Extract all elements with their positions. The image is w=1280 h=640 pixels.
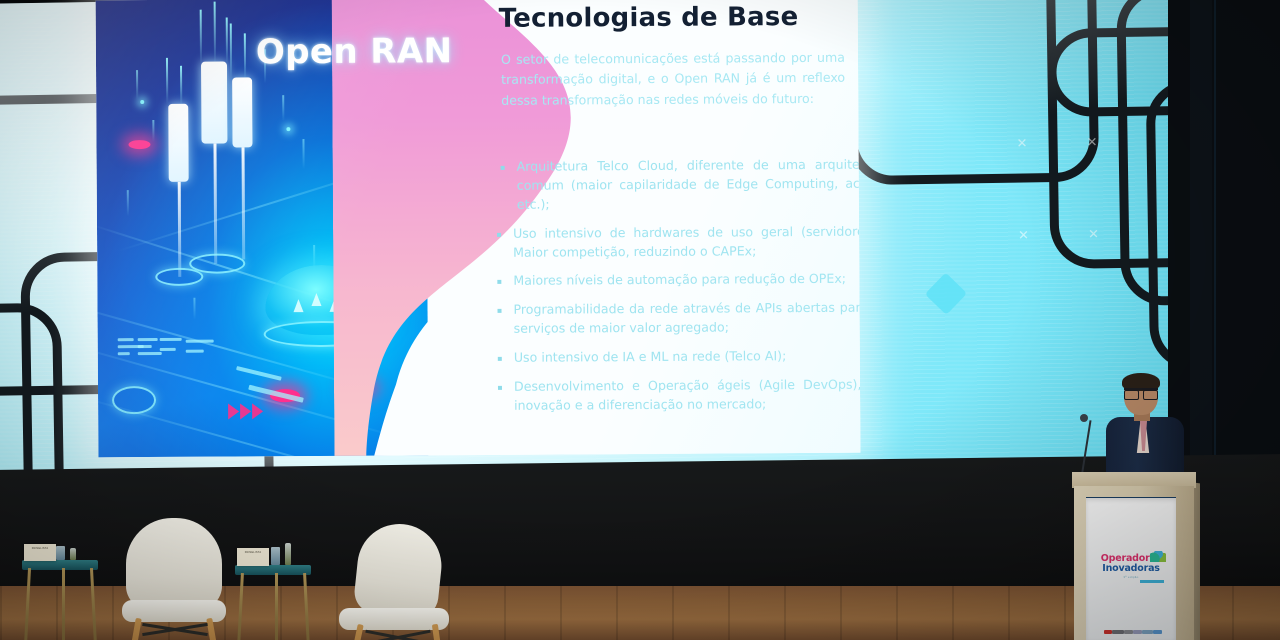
logo-tagline: 3ª edição (1086, 575, 1176, 579)
data-block (186, 350, 204, 353)
sponsor-mark (1124, 630, 1134, 634)
name-card-text: PAINELISTA (24, 544, 56, 551)
chevron-accent (228, 403, 239, 419)
logo-line-2: Inovadoras (1086, 564, 1176, 574)
sponsor-mark (1153, 630, 1162, 634)
x-accent: ✕ (1016, 135, 1027, 151)
bullet-dot (497, 280, 501, 284)
particle (152, 120, 154, 142)
table-top (22, 560, 98, 570)
particle (127, 190, 129, 216)
bullet-text: Uso intensivo de hardwares de uso geral … (513, 222, 860, 262)
water-glass (56, 546, 65, 560)
podium-branding-panel: Operadoras Inovadoras 3ª edição (1086, 498, 1176, 640)
slide-intro-paragraph: O setor de telecomunicações está passand… (501, 48, 845, 111)
data-block (118, 352, 130, 355)
antenna-signal-bar (166, 58, 168, 104)
data-block (236, 366, 282, 381)
antenna-pole (242, 147, 246, 259)
cloud-icon (1150, 551, 1166, 562)
antenna-signal-bar (200, 10, 202, 64)
glasses-icon (1124, 388, 1158, 396)
bullet-dot (498, 386, 502, 390)
data-block (138, 352, 162, 355)
glow-dot (140, 100, 144, 104)
antenna-icon (168, 104, 188, 182)
microphone-icon (1080, 414, 1088, 422)
x-accent: ✕ (1018, 227, 1029, 243)
data-block (138, 345, 152, 348)
podium: Operadoras Inovadoras 3ª edição (1072, 472, 1196, 640)
logo-underbar (1140, 580, 1164, 583)
sponsor-mark (1112, 630, 1124, 634)
data-block (138, 338, 158, 341)
data-block (160, 338, 182, 341)
projected-slide: Open RAN Tecnologias de Base O setor de … (96, 0, 861, 457)
water-bottle (70, 548, 76, 560)
antenna-signal-bar (226, 18, 228, 64)
event-logo: Operadoras Inovadoras 3ª edição (1086, 554, 1176, 579)
antenna-signal-bar (180, 66, 182, 106)
chevron-accent (240, 403, 251, 419)
bullet-dot (498, 309, 502, 313)
list-item: Desenvolvimento e Operação ágeis (Agile … (498, 375, 860, 416)
antenna-signal-bar (230, 24, 232, 80)
name-card: PAINELISTA (237, 548, 269, 566)
circuit-ring (112, 386, 156, 414)
data-block (186, 340, 214, 343)
sponsor-mark (1104, 630, 1112, 634)
bullet-text: Uso intensivo de IA e ML na rede (Telco … (514, 346, 861, 367)
speaker-at-podium (1098, 373, 1194, 478)
sponsor-mark (1133, 630, 1142, 634)
upload-arrow-icon (293, 299, 303, 312)
name-card: PAINELISTA (24, 544, 56, 561)
antenna-icon (201, 62, 228, 144)
antenna-pole (178, 182, 182, 277)
sponsor-logo-row (1104, 630, 1162, 634)
list-item: Programabilidade da rede através de APIs… (497, 298, 860, 339)
data-block (160, 348, 176, 351)
x-accent: ✕ (1086, 134, 1097, 150)
data-block (118, 338, 134, 341)
antenna-signal-bar (214, 2, 216, 64)
bullet-dot (498, 357, 502, 361)
list-item: Arquitetura Telco Cloud, diferente de um… (501, 155, 861, 214)
x-accent: ✕ (1088, 226, 1099, 242)
pillar-light-stripe (1214, 0, 1216, 480)
list-item: Uso intensivo de IA e ML na rede (Telco … (498, 346, 861, 368)
antenna-signal-bar (244, 33, 246, 79)
particle (282, 95, 284, 121)
bullet-text: Arquitetura Telco Cloud, diferente de um… (517, 155, 861, 214)
glow-dot (286, 127, 290, 131)
slide-bullet-list: Arquitetura Telco Cloud, diferente de um… (397, 155, 861, 426)
antenna-icon (232, 77, 252, 147)
table-top (235, 565, 311, 575)
bullet-dot (497, 233, 501, 237)
sponsor-mark (1142, 630, 1153, 634)
bullet-text: Maiores níveis de automação para redução… (513, 270, 860, 291)
rounded-square-motif (0, 303, 66, 488)
chair-back (126, 518, 222, 610)
table-leg (62, 568, 65, 640)
bullet-text: Desenvolvimento e Operação ágeis (Agile … (514, 375, 860, 415)
particle (193, 298, 195, 320)
particle (302, 139, 304, 169)
water-glass (271, 547, 280, 565)
list-item: Maiores níveis de automação para redução… (497, 270, 860, 292)
conference-stage-scene: ✕ ✕ ✕ ✕ (0, 0, 1280, 640)
list-item: Uso intensivo de hardwares de uso geral … (497, 222, 860, 263)
antenna-pole (213, 144, 217, 264)
rounded-square-motif (845, 0, 1100, 185)
table-leg (275, 573, 278, 640)
bullet-dot (501, 166, 505, 170)
particle (136, 70, 138, 100)
chevron-accent (252, 403, 263, 419)
water-bottle (285, 543, 291, 565)
bullet-text: Programabilidade da rede através de APIs… (513, 299, 860, 339)
upload-arrow-icon (311, 293, 321, 306)
name-card-text: PAINELISTA (237, 548, 269, 555)
pink-glow-accent (128, 140, 150, 149)
diamond-accent (925, 273, 967, 315)
slide-title: Tecnologias de Base (499, 2, 859, 34)
slide-artwork-title: Open RAN (256, 31, 453, 72)
